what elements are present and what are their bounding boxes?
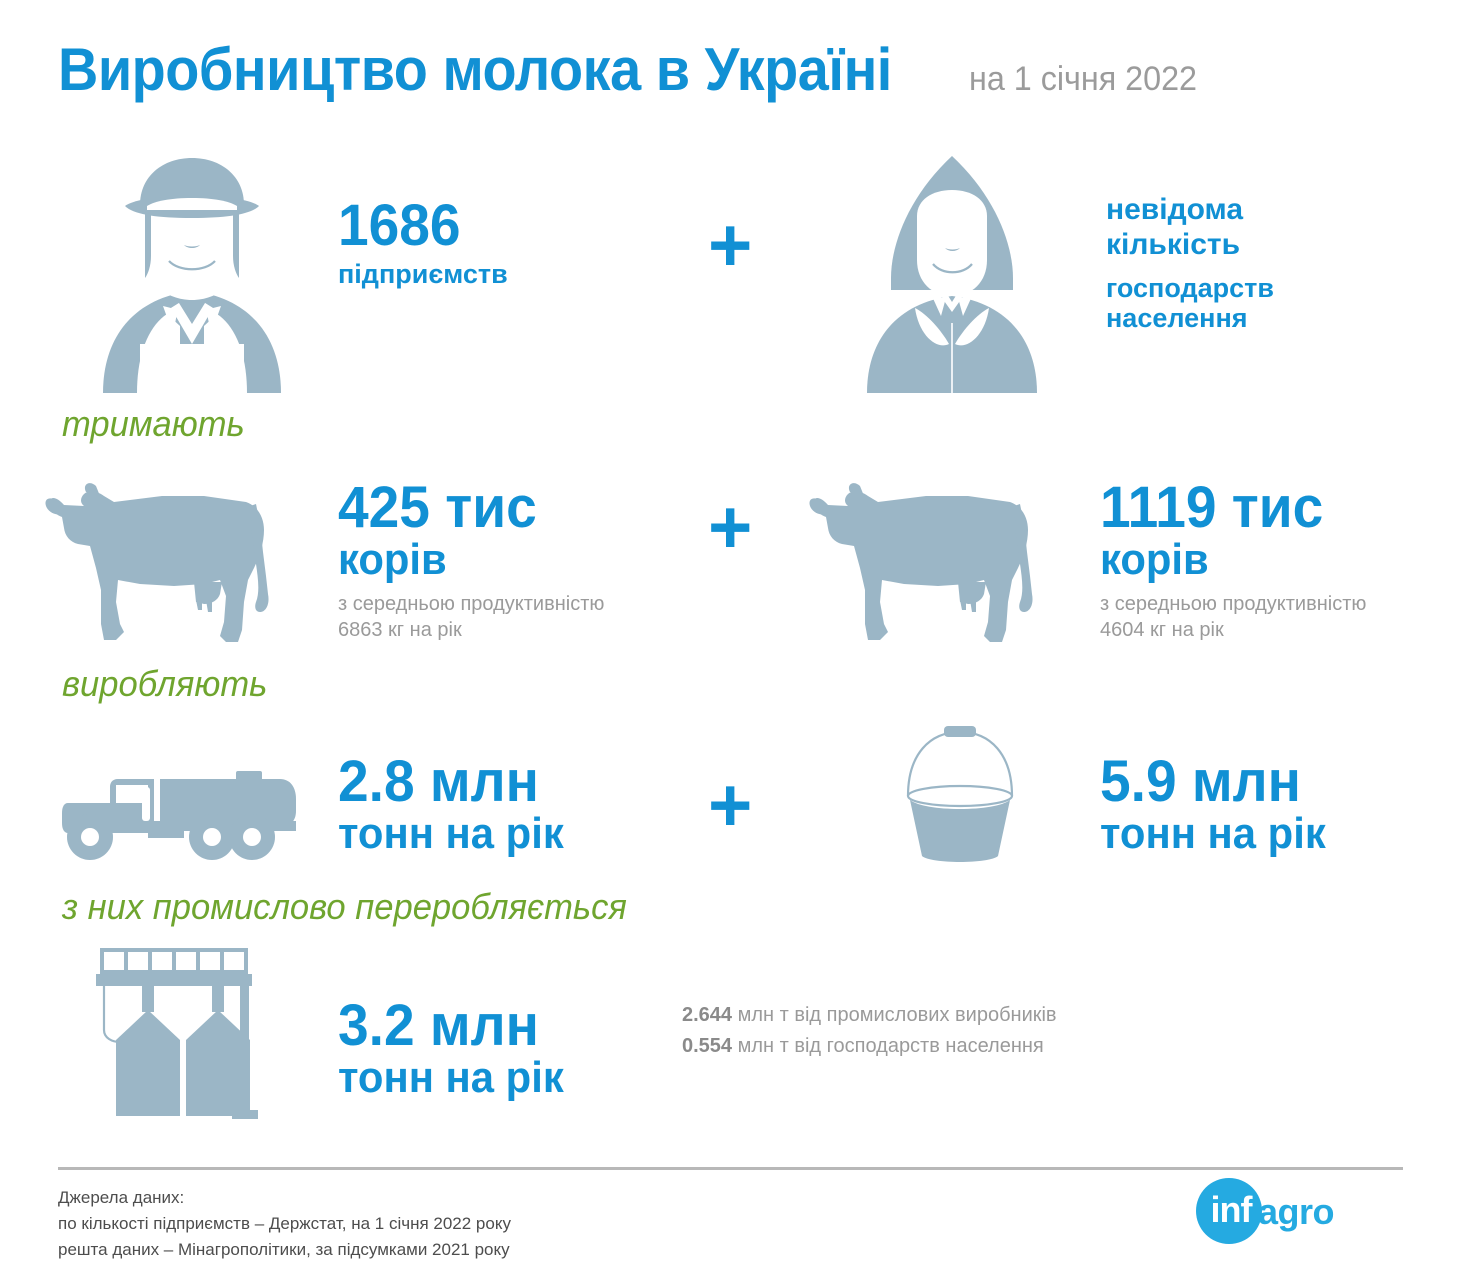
breakdown-row-industrial: 2.644 млн т від промислових виробників (682, 1000, 1057, 1031)
stat-output-enterprises-unit: тонн на рік (338, 811, 564, 857)
stat-enterprises-value: 1686 (338, 196, 499, 255)
data-sources-line-2: по кількості підприємств – Держстат, на … (58, 1211, 511, 1237)
stat-cows-enterprises: 425 тис корів з середньою продуктивністю… (338, 478, 604, 644)
data-sources: Джерела даних: по кількості підприємств … (58, 1185, 511, 1262)
stat-output-households-unit: тонн на рік (1100, 811, 1326, 857)
stat-output-enterprises-value: 2.8 млн (338, 752, 564, 811)
plus-icon-output: + (708, 768, 752, 844)
farmer-woman-icon (845, 148, 1060, 393)
infagro-logo[interactable]: inf agro (1196, 1178, 1334, 1244)
title-main-text: Виробництво молока в Україні (58, 35, 892, 104)
stat-cows-enterprises-note-2: 6863 кг на рік (338, 618, 604, 644)
footer-divider (58, 1167, 1403, 1170)
stat-output-enterprises: 2.8 млн тонн на рік (338, 752, 576, 857)
farmer-man-icon (85, 148, 300, 393)
milk-tanker-truck-icon (56, 757, 304, 863)
data-sources-heading: Джерела даних: (58, 1185, 511, 1211)
stat-cows-households-note-1: з середньою продуктивністю (1100, 592, 1366, 618)
stat-households-headline-2: кількість (1106, 227, 1274, 262)
logo-circle: inf (1196, 1178, 1262, 1244)
breakdown-households-number: 0.554 (682, 1035, 732, 1057)
stat-enterprises: 1686 підприємств (338, 196, 508, 289)
milk-bucket-icon (890, 718, 1030, 862)
stat-cows-households-value: 1119 тис (1100, 478, 1353, 537)
stat-cows-enterprises-unit: корів (338, 537, 591, 583)
stat-output-households-value: 5.9 млн (1100, 752, 1326, 811)
stat-output-households: 5.9 млн тонн на рік (1100, 752, 1338, 857)
infographic-page: Виробництво молока в Україні на 1 січня … (0, 0, 1461, 1263)
connector-label-produce: виробляють (62, 663, 267, 705)
cow-icon-households (808, 472, 1078, 657)
breakdown-row-households: 0.554 млн т від господарств населення (682, 1031, 1057, 1062)
cow-icon-enterprises (44, 472, 314, 657)
stat-cows-households-note-2: 4604 кг на рік (1100, 618, 1366, 644)
dairy-plant-silos-icon (90, 944, 290, 1124)
stat-households-headline-1: невідома (1106, 192, 1274, 227)
stat-households-sub-2: населення (1106, 303, 1274, 333)
connector-label-keep: тримають (62, 403, 245, 445)
plus-icon-cows: + (708, 490, 752, 566)
stat-processed-value: 3.2 млн (338, 996, 564, 1055)
stat-cows-enterprises-value: 425 тис (338, 478, 591, 537)
breakdown-industrial-number: 2.644 (682, 1004, 732, 1026)
logo-inf-text: inf (1211, 1192, 1252, 1228)
stat-cows-households-unit: корів (1100, 537, 1353, 583)
stat-cows-enterprises-note-1: з середньою продуктивністю (338, 592, 604, 618)
page-title: Виробництво молока в Україні на 1 січня … (58, 35, 1209, 104)
stat-enterprises-unit: підприємств (338, 259, 508, 289)
stat-processed-unit: тонн на рік (338, 1055, 564, 1101)
processed-breakdown: 2.644 млн т від промислових виробників 0… (682, 1000, 1057, 1062)
connector-label-processed: з них промислово переробляється (62, 886, 627, 928)
stat-households: невідома кількість господарств населення (1106, 192, 1274, 333)
stat-households-sub-1: господарств (1106, 273, 1274, 303)
data-sources-line-3: решта даних – Мінагрополітики, за підсум… (58, 1237, 511, 1263)
stat-cows-households: 1119 тис корів з середньою продуктивніст… (1100, 478, 1366, 644)
title-date-note: на 1 січня 2022 (969, 60, 1197, 99)
breakdown-households-text: млн т від господарств населення (732, 1035, 1044, 1057)
breakdown-industrial-text: млн т від промислових виробників (732, 1004, 1057, 1026)
logo-agro-text: agro (1258, 1194, 1334, 1230)
plus-icon-producers: + (708, 208, 752, 284)
stat-processed: 3.2 млн тонн на рік (338, 996, 576, 1101)
